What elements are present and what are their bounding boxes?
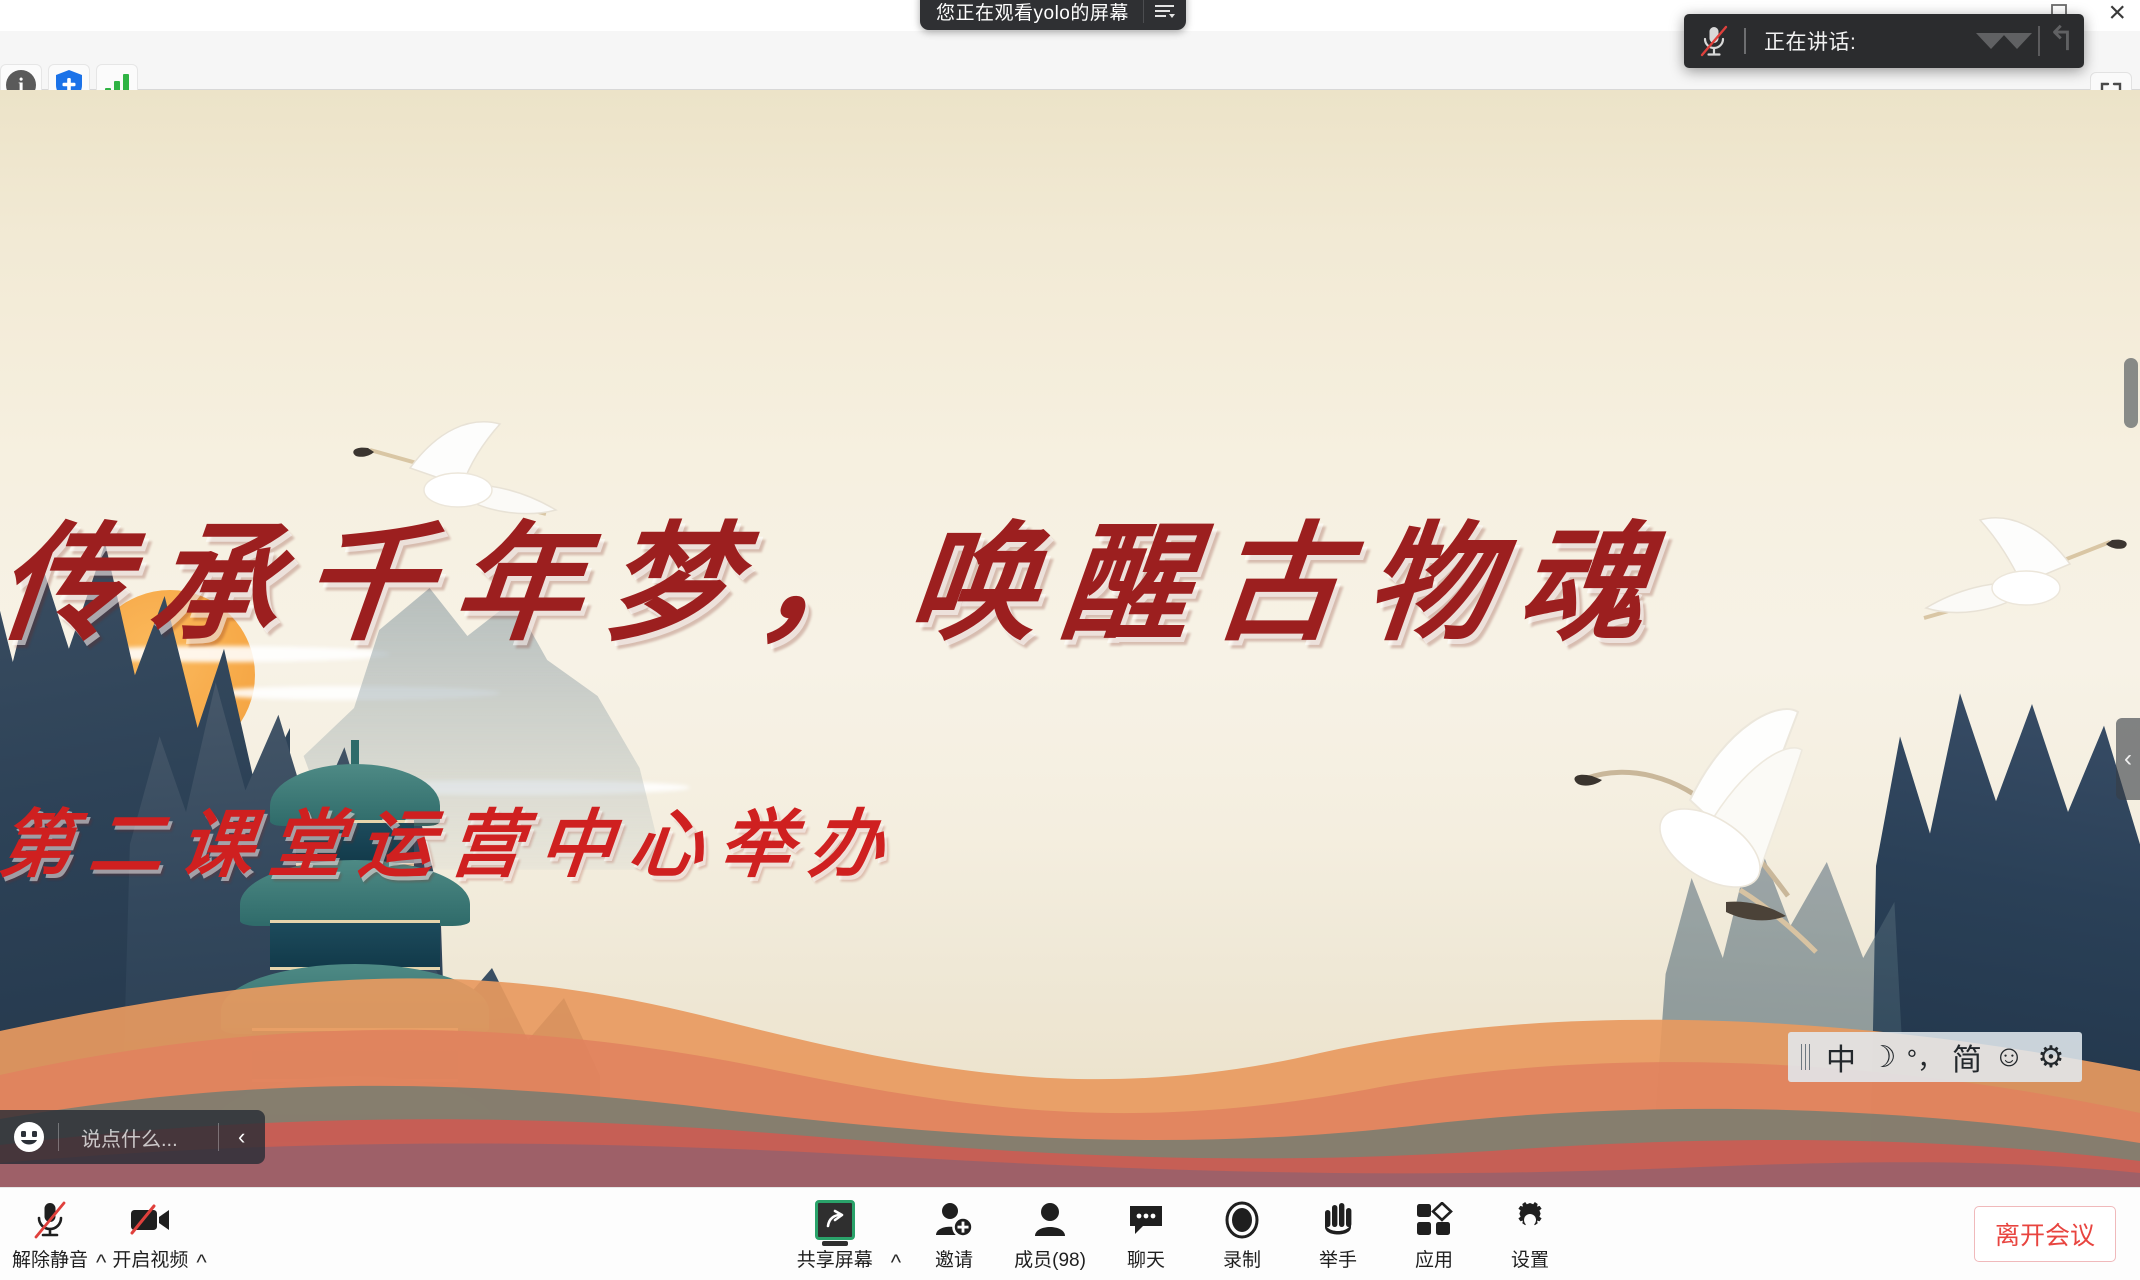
- viewing-screen-banner[interactable]: 您正在观看yolo的屏幕: [920, 0, 1186, 30]
- emoji-smiley-icon[interactable]: [0, 1121, 58, 1153]
- share-screen-label: 共享屏幕: [797, 1245, 873, 1272]
- shared-screen-stage: 传承千年梦，唤醒古物魂 第二课堂运营中心举办 说点什么... ‹ 中 ☽ °，: [0, 90, 2140, 1187]
- mute-toggle[interactable]: 解除静音: [6, 1193, 94, 1276]
- chat-label: 聊天: [1127, 1245, 1165, 1272]
- ime-language-mode[interactable]: 中: [1820, 1036, 1862, 1078]
- microphone-muted-icon: [32, 1199, 68, 1241]
- record-button[interactable]: 录制: [1199, 1193, 1285, 1276]
- leave-meeting-button[interactable]: 离开会议: [1974, 1206, 2116, 1262]
- invite-label: 邀请: [935, 1245, 973, 1272]
- apps-button[interactable]: 应用: [1391, 1193, 1477, 1276]
- toolbar-left-group: 解除静音 ^ 开启视频 ^: [0, 1193, 207, 1276]
- presentation-title: 传承千年梦，唤醒古物魂: [0, 480, 2140, 665]
- meeting-window: i: [0, 0, 2140, 1280]
- raise-hand-label: 举手: [1319, 1245, 1357, 1272]
- record-circle-icon: [1223, 1199, 1261, 1241]
- chat-button[interactable]: 聊天: [1103, 1193, 1189, 1276]
- camera-off-icon: [128, 1199, 172, 1241]
- ime-simplified-mode[interactable]: 简: [1946, 1036, 1988, 1078]
- ime-moon-mode-icon[interactable]: ☽: [1862, 1036, 1904, 1078]
- share-options-caret[interactable]: ^: [891, 1232, 901, 1276]
- collapse-chevrons-icon-2[interactable]: [2002, 33, 2032, 49]
- ime-emoji-icon[interactable]: ☺: [1988, 1036, 2030, 1078]
- microphone-muted-icon[interactable]: [1684, 24, 1744, 58]
- speaking-overlay[interactable]: 正在讲话: ↰: [1684, 14, 2084, 68]
- apps-label: 应用: [1415, 1245, 1453, 1272]
- overlay-divider-2: [2038, 26, 2040, 56]
- speaking-label: 正在讲话:: [1746, 26, 1856, 56]
- overlay-actions: ↰: [1978, 26, 2085, 56]
- ime-settings-icon[interactable]: ⚙: [2030, 1036, 2072, 1078]
- person-icon: [1032, 1199, 1068, 1241]
- participants-button[interactable]: 成员(98): [1007, 1193, 1093, 1276]
- mute-options-caret[interactable]: ^: [96, 1232, 106, 1276]
- quick-chat-input[interactable]: 说点什么...: [59, 1123, 218, 1152]
- video-toggle-label: 开启视频: [112, 1245, 188, 1272]
- right-scrollbar-thumb[interactable]: [2124, 358, 2138, 428]
- toolbar-center-group: 共享屏幕 ^ 邀请: [791, 1193, 1573, 1276]
- mute-toggle-label: 解除静音: [12, 1245, 88, 1272]
- ime-punctuation-mode[interactable]: °，: [1904, 1036, 1946, 1078]
- ime-floating-toolbar[interactable]: 中 ☽ °， 简 ☺ ⚙: [1788, 1032, 2082, 1082]
- toolbar-right-group: 离开会议: [1974, 1206, 2140, 1262]
- record-label: 录制: [1223, 1245, 1261, 1272]
- apps-grid-icon: [1415, 1199, 1453, 1241]
- raised-hand-icon: [1321, 1199, 1355, 1241]
- raise-hand-button[interactable]: 举手: [1295, 1193, 1381, 1276]
- video-toggle[interactable]: 开启视频: [106, 1193, 194, 1276]
- settings-label: 设置: [1511, 1245, 1549, 1272]
- share-screen-button[interactable]: 共享屏幕: [791, 1193, 879, 1276]
- video-options-caret[interactable]: ^: [196, 1232, 206, 1276]
- quick-chat-bar[interactable]: 说点什么... ‹: [0, 1110, 265, 1164]
- gear-icon: [1511, 1199, 1549, 1241]
- person-add-icon: [934, 1199, 974, 1241]
- viewing-screen-label: 您正在观看yolo的屏幕: [920, 0, 1143, 30]
- chat-bubble-icon: [1127, 1199, 1165, 1241]
- invite-button[interactable]: 邀请: [911, 1193, 997, 1276]
- chat-collapse-icon[interactable]: ‹: [219, 1124, 265, 1150]
- reply-arrow-icon[interactable]: ↰: [2048, 22, 2077, 56]
- presentation-subtitle: 第二课堂运营中心举办: [0, 785, 2140, 892]
- panel-collapse-handle[interactable]: ‹: [2116, 718, 2140, 800]
- participants-label: 成员(98): [1014, 1245, 1086, 1272]
- meeting-toolbar: 解除静音 ^ 开启视频 ^: [0, 1187, 2140, 1280]
- close-icon[interactable]: ×: [2108, 0, 2126, 26]
- ime-grip-handle[interactable]: [1798, 1044, 1814, 1070]
- share-screen-icon: [815, 1199, 855, 1241]
- settings-button[interactable]: 设置: [1487, 1193, 1573, 1276]
- hamburger-menu-icon[interactable]: [1144, 0, 1186, 30]
